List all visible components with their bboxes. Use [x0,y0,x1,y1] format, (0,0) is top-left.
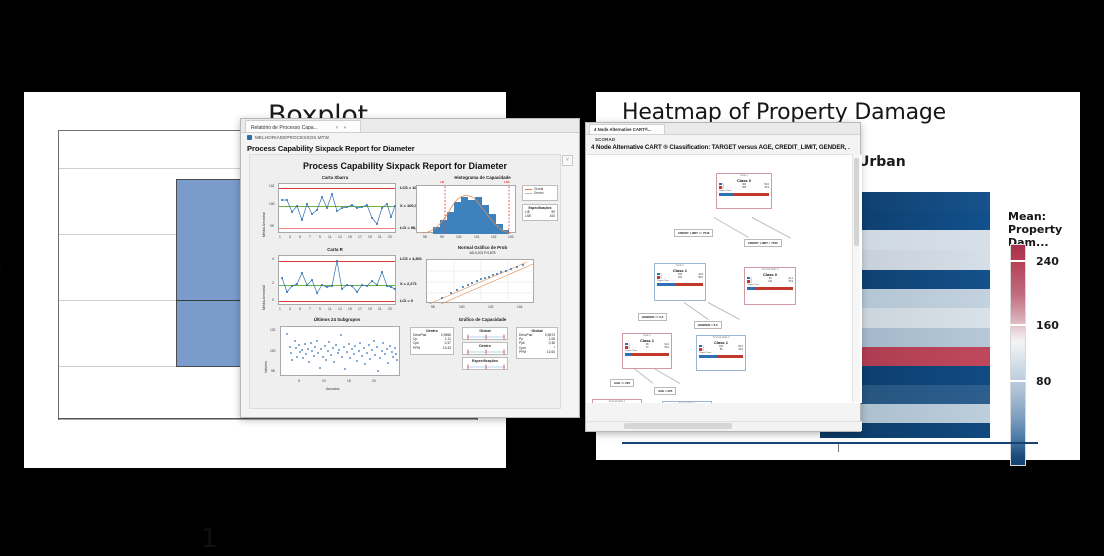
capability-spec-interval: Especificações [462,357,508,370]
tree-node-7[interactable]: Terminal Node 4 Class 1 1 7068,7 0 3431,… [662,401,712,403]
tree-edge [684,302,709,320]
probplot-x-tick: 98 [431,305,435,309]
xbar-x-tick: 21 [378,235,382,239]
rchart-x-tick: 17 [358,307,362,311]
tab-process-capability[interactable]: Relatório de Processo Capa... ˅ × [245,120,361,132]
y-tick-5: 5 [0,453,2,482]
screenshot-stage: Boxplot 20 15 10 5 0 1 Heatmap of Proper… [0,0,1104,556]
xbar-x-tick: 3 [289,235,291,239]
probplot-points [427,260,535,304]
node-distribution-bar [747,287,793,291]
tree-edge [634,368,654,384]
subgroups-x-tick: 15 [347,379,351,383]
tree-node-2[interactable]: Node 2 Class 1 1 16042,8 0 18258,2 Targe… [654,263,706,301]
node-distribution-bar [699,355,743,359]
rchart-title: Carta R [270,247,400,252]
tree-edge [654,368,680,384]
report-heading: Process Capability Sixpack Report for Di… [247,144,415,153]
within-interval-title: Dentro [463,343,507,348]
within-interval-bar [463,349,509,355]
xbar-x-tick: 23 [388,235,392,239]
y-tick-20: 20 [0,255,2,284]
subgroups-x-tick: 20 [372,379,376,383]
probplot-x-tick: 102 [488,305,494,309]
rchart-x-tick: 19 [368,307,372,311]
probplot-subtitle: AD:0,201 P:0,878 [410,251,555,255]
colorbar-tick-80: 80 [1036,375,1051,388]
histogram-lsl-label: LIE [440,180,444,184]
capability-within-interval: Dentro [462,342,508,355]
rchart-x-tick: 3 [289,307,291,311]
heatmap-axis-tick [838,444,839,452]
tab-close-icon[interactable]: ˅ × [336,125,349,130]
cart-tree-canvas: Node 1 Class 0 1 30053,0 0 26546,9 Targe… [586,154,862,403]
gridline-0 [59,419,477,420]
last-subgroups-plot-area [280,326,400,376]
rchart-y-tick-2: 2 [272,281,274,285]
histogram-title: Histograma de Capacidade [410,175,555,180]
last-subgroups-title: Últimos 24 Subgrupos [272,317,402,322]
xbar-x-tick: 13 [338,235,342,239]
rchart-series [279,256,397,306]
heatmap-column-header: Urban [858,154,906,170]
node-distribution-bar [625,353,669,357]
xbar-y-tick-99: 99 [270,224,274,228]
rchart-x-tick: 5 [299,307,301,311]
rchart-x-tick: 9 [319,307,321,311]
split-label: GENDER > 0,5 [694,321,722,329]
xbar-plot-area [278,183,396,233]
xbar-x-tick: 7 [309,235,311,239]
probplot-x-tick: 104 [517,305,523,309]
tab-cart-classification[interactable]: 4 Node Alternative CART®... [589,124,665,134]
capability-overall-box: Global DesvPad0,9673 Pp1,08 Ppk0,36 Cpm*… [516,327,558,359]
rchart-x-tick: 23 [388,307,392,311]
sixpack-chart-canvas: Process Capability Sixpack Report for Di… [249,154,561,409]
subgroup-scatter-points [281,327,401,377]
subgroups-y-tick-98: 98 [271,369,275,373]
rchart-x-tick: 11 [328,307,331,311]
tree-node-4[interactable]: Node 4 Class 1 1 9861,0 0 7039,0 Target … [622,333,672,369]
subgroups-x-axis-title: Amostra [326,387,339,391]
x-tick-1: 1 [201,524,218,554]
rchart-x-tick: 15 [348,307,352,311]
spec-key: LSE [525,214,531,218]
histogram-x-tick: 103 [508,235,514,239]
split-label: CREDIT_LIMIT <= 7540 [674,229,713,237]
tree-node-root[interactable]: Node 1 Class 0 1 30053,0 0 26546,9 Targe… [716,173,772,209]
capability-within-box: Dentro DesvPad0,9566 Cp1,11 Cpk0,37 PPM1… [410,327,454,355]
split-label: AGE > 225 [654,387,676,395]
minitab-window[interactable]: Relatório de Processo Capa... ˅ × MELHOR… [240,118,580,418]
worksheet-icon [247,135,252,140]
probplot-plot-area [426,259,534,303]
spec-row: LSE 100 [523,214,557,218]
tree-node-5[interactable]: Terminal Node 2 Class 1 1 10066,4 0 8633… [696,335,746,371]
worksheet-filename: MELHORIADEPROCESSOS.MTW [255,135,329,140]
last-subgroups-y-axis-title: Valores [264,361,268,373]
heatmap-axis-line [622,442,1038,444]
split-label: AGE <= 225 [610,379,634,387]
subgroups-x-tick: 5 [298,379,300,383]
rchart-x-tick: 21 [378,307,382,311]
legend-title-line1: Mean: [1008,210,1076,223]
histogram-plot-area [416,185,516,233]
xbar-y-tick-101: 101 [269,184,275,188]
overall-key: PPM [519,350,526,354]
cart-window[interactable]: 4 Node Alternative CART®... SCORAD 4 Nod… [585,122,861,432]
spec-interval-title: Especificações [463,358,507,363]
probplot-title: Normal Gráfico de Prob [410,245,555,250]
split-label: CREDIT_LIMIT > 7540 [744,239,782,247]
rchart-lcl-label: LCI = 0 [400,298,413,303]
xbar-chart-title: Carta Xbarra [270,175,400,180]
colorbar-notch-160 [1010,324,1026,326]
tree-edge [714,217,749,238]
xbar-x-tick: 15 [348,235,352,239]
xbar-y-axis-title: Média Amostral [262,212,266,237]
xbar-x-tick: 19 [368,235,372,239]
node-distribution-bar [719,193,769,197]
colorbar-notch-80 [1010,380,1026,382]
legend-line-icon [525,189,532,190]
sixpack-chart-title: Process Capability Sixpack Report for Di… [250,161,560,171]
tab-label: Relatório de Processo Capa... [251,125,318,131]
node-stats-table: 1 9861,0 0 7039,0 [623,343,671,350]
xbar-x-tick: 9 [319,235,321,239]
xbar-series [279,184,397,234]
spec-box: Especificações LIE 99 LSE 100 [522,204,558,221]
histogram-legend: Global Dentro [522,185,558,201]
legend-row-within: Dentro [525,191,555,195]
within-value: 13,43 [443,346,451,350]
cart-vertical-scrollbar[interactable] [852,154,860,402]
tree-node-6[interactable]: Terminal Node 1 Class 0 1 811,0 0 6689,0… [592,399,642,403]
subgroups-y-tick-100: 100 [270,349,276,353]
histogram-bars [417,186,517,234]
histogram-x-tick: 102 [491,235,497,239]
node-stats-table: 1 16042,8 0 18258,2 [655,273,705,280]
xbar-x-tick: 17 [358,235,362,239]
cart-heading: 4 Node Alternative CART ® Classification… [591,144,850,151]
node-stats-table: 1 30053,0 0 26546,9 [717,183,771,190]
colorbar-tick-240: 240 [1036,255,1059,268]
rchart-y-tick-4: 4 [272,257,274,261]
spec-value: 100 [549,214,555,218]
overall-value: 12,60 [547,350,555,354]
split-label: GENDER <= 0,5 [638,313,667,321]
legend-label: Dentro [534,191,544,195]
within-row: PPM13,43 [411,346,453,350]
subgroups-y-tick-102: 102 [270,328,276,332]
overall-interval-title: Global [463,328,507,333]
rchart-center-label: X = 2,271 [400,281,417,286]
capability-overall-interval: Global [462,327,508,340]
rchart-x-tick: 13 [338,307,342,311]
subgroups-x-tick: 10 [322,379,326,383]
scrollbar-thumb[interactable] [854,158,859,246]
cart-subtitle: SCORAD [595,137,615,142]
histogram-x-tick: 101 [474,235,480,239]
xbar-x-tick: 1 [279,235,281,239]
colorbar-notch-240 [1010,260,1026,262]
scrollbar-thumb[interactable] [624,423,732,429]
node-distribution-bar [657,283,703,287]
rchart-x-tick: 7 [309,307,311,311]
worksheet-file-line: MELHORIADEPROCESSOS.MTW [247,135,329,140]
rchart-y-tick-0: 0 [272,298,274,302]
heatmap-colorbar [1010,244,1026,466]
node-stats-table: 1 2922,1 0 11678,9 [745,277,795,284]
y-tick-0: 0 [0,506,2,535]
histogram-usl-label: LSE [504,180,509,184]
rchart-x-tick: 1 [279,307,281,311]
histogram-x-tick: 100 [456,235,462,239]
xbar-x-tick: 5 [299,235,301,239]
spec-interval-bar [463,364,509,370]
overall-interval-bar [463,334,509,340]
y-tick-15: 15 [0,321,2,350]
tree-node-3[interactable]: Terminal Node 3 Class 0 1 2922,1 0 11678… [744,267,796,305]
overall-row: PPM12,60 [517,350,557,354]
legend-line-icon [525,193,532,194]
tree-edge [708,302,740,320]
probplot-x-tick: 100 [459,305,465,309]
y-tick-10: 10 [0,387,2,416]
rchart-y-axis-title: Média Amostral [262,285,266,310]
chevron-down-icon[interactable]: ˅ [562,155,573,166]
node-stats-table: 1 10066,4 0 8633,6 [697,345,745,352]
xbar-x-tick: 11 [328,235,331,239]
colorbar-tick-160: 160 [1036,319,1059,332]
cart-tabstrip: 4 Node Alternative CART®... [586,123,860,135]
histogram-x-tick: 98 [423,235,427,239]
tree-edge [752,217,791,239]
within-key: PPM [413,346,420,350]
node-header: Terminal Node 4 [663,402,711,403]
cart-horizontal-scrollbar[interactable] [586,421,862,431]
minitab-tabstrip: Relatório de Processo Capa... ˅ × [241,119,579,133]
histogram-x-tick: 99 [440,235,444,239]
rchart-plot-area [278,255,396,305]
rchart-ucl-label: LCS = 4,801 [400,256,422,261]
capability-title: Gráfico de Capacidade [410,317,555,322]
xbar-y-tick-100: 100 [269,202,275,206]
